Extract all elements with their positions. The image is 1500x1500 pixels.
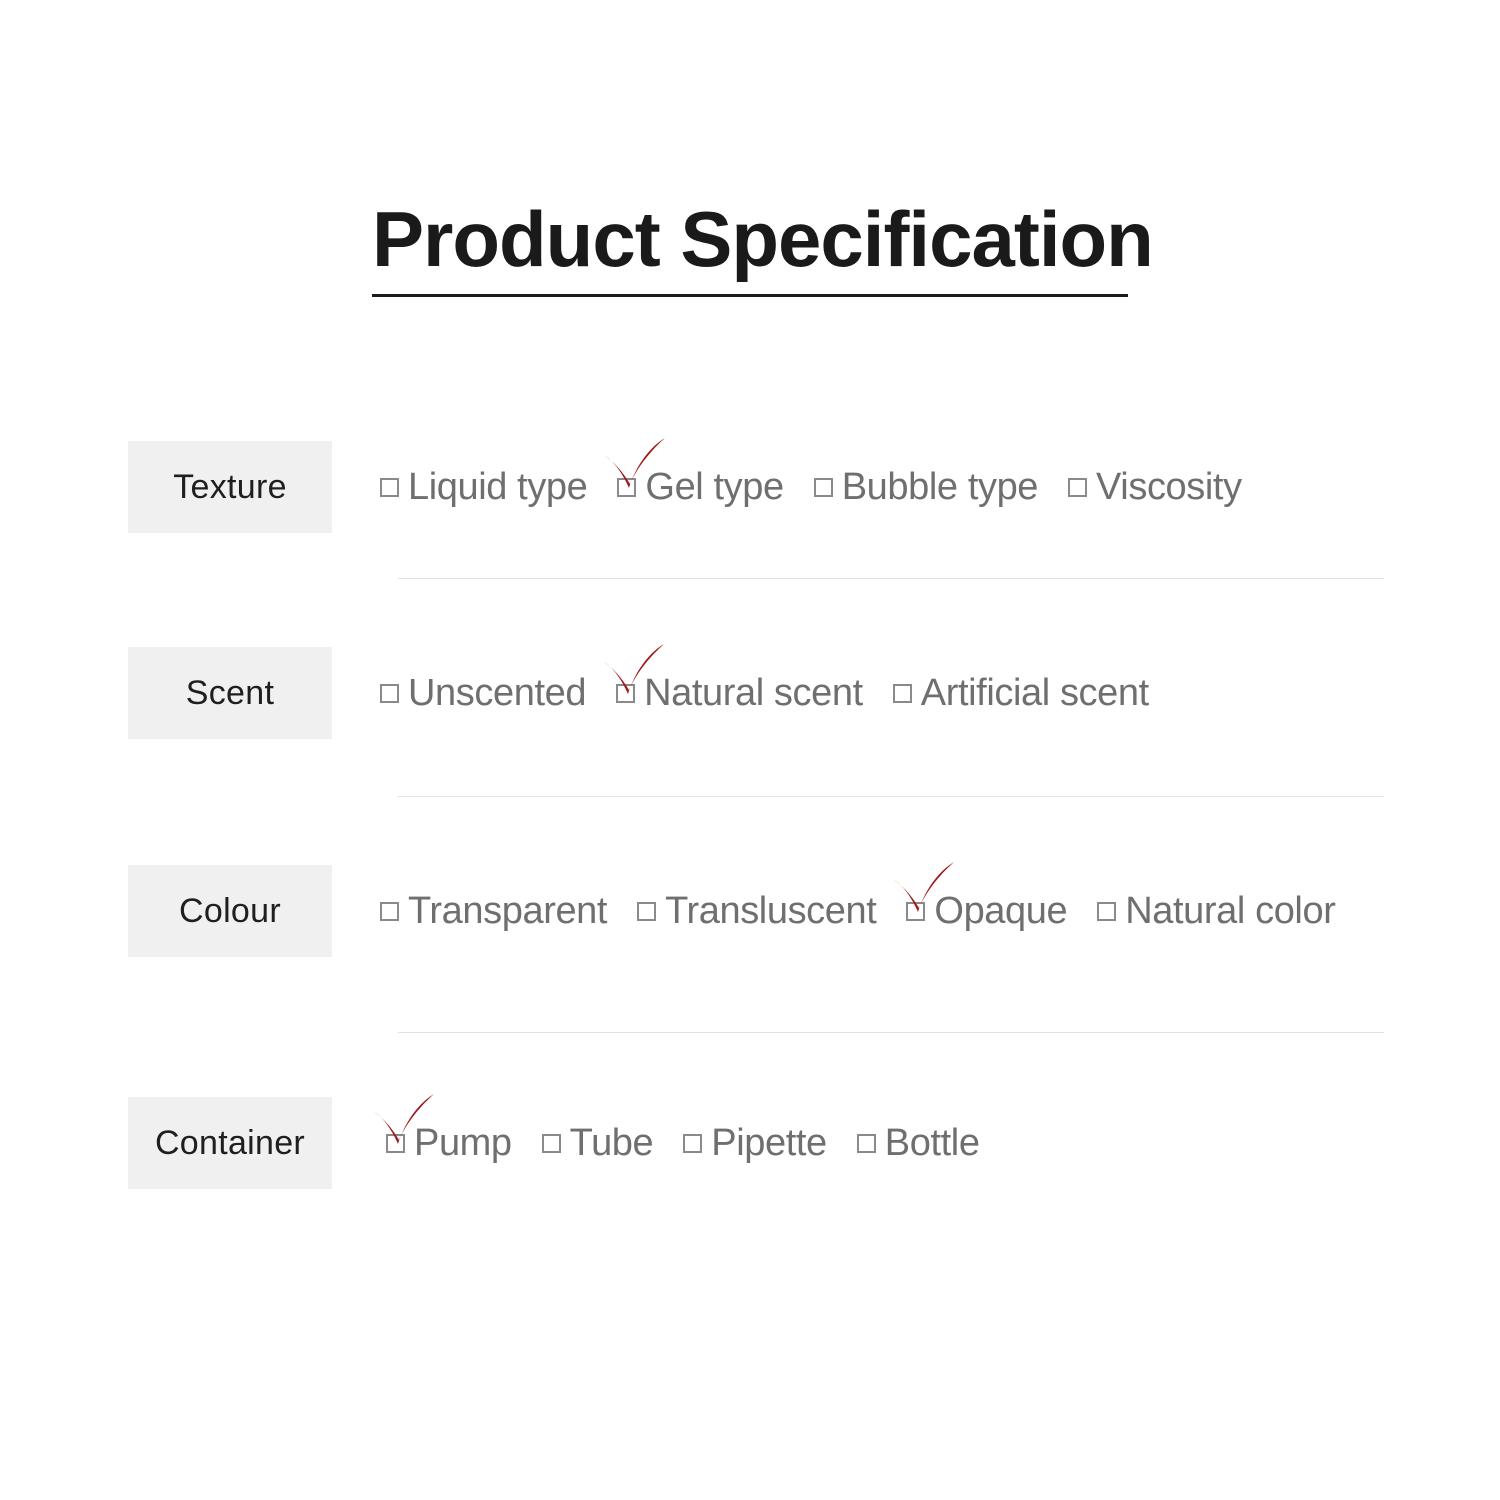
option-opaque[interactable]: Opaque [906,892,1067,930]
empty-checkbox-icon[interactable] [906,902,925,921]
option-label: Tube [570,1124,654,1162]
option-transluscent[interactable]: Transluscent [637,892,876,930]
option-label: Opaque [934,892,1067,930]
option-bubble-type[interactable]: Bubble type [814,468,1038,506]
option-unscented[interactable]: Unscented [380,674,586,712]
option-label: Pipette [711,1124,827,1162]
option-label: Artificial scent [921,674,1149,712]
option-label: Transluscent [665,892,876,930]
options-texture: Liquid type Gel type Bubble type Viscosi… [380,468,1242,506]
option-transparent[interactable]: Transparent [380,892,607,930]
row-label-scent: Scent [128,647,332,739]
option-liquid-type[interactable]: Liquid type [380,468,587,506]
spec-row-colour: Colour Transparent Transluscent Opaque [0,836,1500,986]
empty-checkbox-icon[interactable] [637,902,656,921]
empty-checkbox-icon[interactable] [1068,478,1087,497]
title-underline [372,294,1128,297]
option-label: Bottle [885,1124,980,1162]
option-label: Natural scent [644,674,863,712]
options-colour: Transparent Transluscent Opaque Natural … [380,892,1335,930]
specification-sheet: Product Specification Texture Liquid typ… [0,0,1500,1500]
row-divider [398,578,1384,579]
row-label-colour: Colour [128,865,332,957]
empty-checkbox-icon[interactable] [380,478,399,497]
row-label-texture: Texture [128,441,332,533]
empty-checkbox-icon[interactable] [893,684,912,703]
option-label: Natural color [1125,892,1335,930]
option-pipette[interactable]: Pipette [683,1124,827,1162]
option-label: Gel type [645,468,783,506]
option-bottle[interactable]: Bottle [857,1124,980,1162]
option-label: Unscented [408,674,586,712]
option-pump[interactable]: Pump [386,1124,512,1162]
empty-checkbox-icon[interactable] [386,1134,405,1153]
option-label: Bubble type [842,468,1038,506]
spec-row-scent: Scent Unscented Natural scent Artificial… [0,618,1500,768]
page-title-block: Product Specification [372,200,1128,297]
empty-checkbox-icon[interactable] [1097,902,1116,921]
empty-checkbox-icon[interactable] [380,684,399,703]
row-label-container: Container [128,1097,332,1189]
option-label: Viscosity [1096,468,1242,506]
option-tube[interactable]: Tube [542,1124,654,1162]
row-divider [398,796,1384,797]
empty-checkbox-icon[interactable] [616,684,635,703]
empty-checkbox-icon[interactable] [683,1134,702,1153]
page-title: Product Specification [372,200,1128,278]
option-gel-type[interactable]: Gel type [617,468,783,506]
empty-checkbox-icon[interactable] [380,902,399,921]
option-viscosity[interactable]: Viscosity [1068,468,1242,506]
option-natural-scent[interactable]: Natural scent [616,674,863,712]
option-label: Pump [414,1124,512,1162]
option-artificial-scent[interactable]: Artificial scent [893,674,1149,712]
empty-checkbox-icon[interactable] [542,1134,561,1153]
empty-checkbox-icon[interactable] [617,478,636,497]
option-label: Transparent [408,892,607,930]
empty-checkbox-icon[interactable] [814,478,833,497]
spec-row-texture: Texture Liquid type Gel type Bubble type [0,412,1500,562]
spec-row-container: Container Pump Tube Pipette [0,1068,1500,1218]
option-natural-color[interactable]: Natural color [1097,892,1335,930]
option-label: Liquid type [408,468,587,506]
options-container: Pump Tube Pipette Bottle [386,1124,980,1162]
empty-checkbox-icon[interactable] [857,1134,876,1153]
options-scent: Unscented Natural scent Artificial scent [380,674,1149,712]
row-divider [398,1032,1384,1033]
